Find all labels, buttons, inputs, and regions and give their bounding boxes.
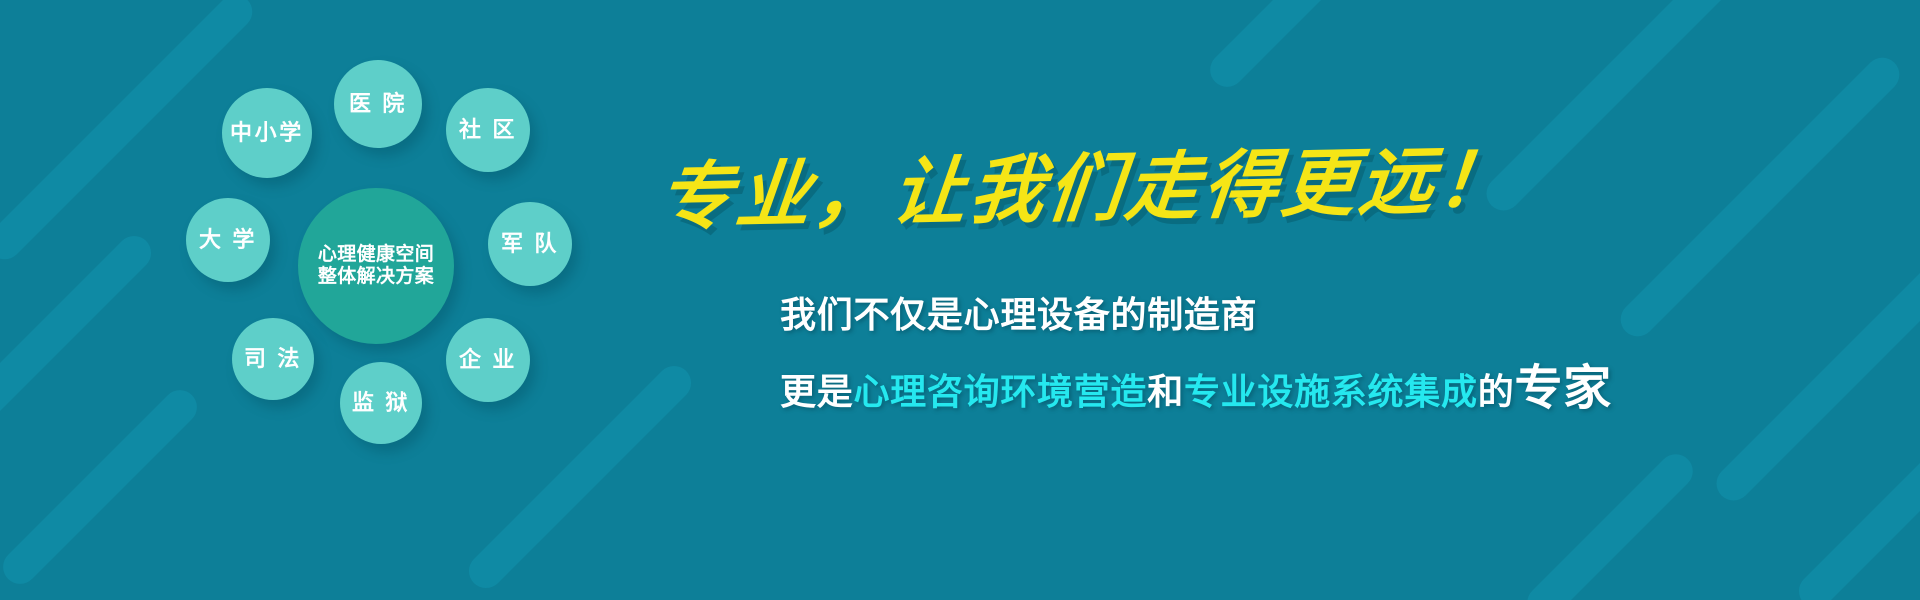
solution-bubble-cluster: 心理健康空间 整体解决方案 中小学 医 院 社 区 大 学 军 队 司 法 企 … [0,0,640,600]
subtitle-part-4-highlight: 专业设施系统集成 [1184,363,1478,415]
bubble-community[interactable]: 社 区 [446,88,530,172]
bubble-center-line1: 心理健康空间 [318,244,434,266]
bubble-label: 中小学 [230,120,304,146]
bubble-label: 医 院 [349,91,407,117]
bubble-label: 社 区 [459,117,517,143]
bubble-enterprise[interactable]: 企 业 [446,318,530,402]
bubble-center-line2: 整体解决方案 [318,266,434,288]
subtitle-part-1: 更是 [780,363,853,415]
bubble-center-solution[interactable]: 心理健康空间 整体解决方案 [298,188,454,344]
headline-slogan: 专业，让我们走得更远！ [654,122,1427,245]
banner-text-content: 专业，让我们走得更远！ 我们不仅是心理设备的制造商 更是 心理咨询环境营造 和 … [640,0,1920,600]
subtitle-part-3: 和 [1147,363,1184,415]
bubble-primary-secondary-school[interactable]: 中小学 [222,88,312,178]
bubble-label: 司 法 [244,346,302,372]
bubble-label: 监 狱 [352,390,410,416]
promo-banner: 心理健康空间 整体解决方案 中小学 医 院 社 区 大 学 军 队 司 法 企 … [0,0,1920,600]
bubble-military[interactable]: 军 队 [488,202,572,286]
subtitle-line-2: 更是 心理咨询环境营造 和 专业设施系统集成 的 专家 [780,348,1612,418]
bubble-hospital[interactable]: 医 院 [334,60,422,148]
bubble-judicial[interactable]: 司 法 [232,318,314,400]
subtitle-part-2-highlight: 心理咨询环境营造 [853,363,1147,415]
subtitle-line-1: 我们不仅是心理设备的制造商 [780,286,1257,338]
bubble-label: 企 业 [459,347,517,373]
bubble-label: 大 学 [199,227,257,253]
bubble-label: 军 队 [501,231,559,257]
subtitle-part-6-emphasis: 专家 [1514,348,1611,418]
bubble-prison[interactable]: 监 狱 [340,362,422,444]
bubble-university[interactable]: 大 学 [186,198,270,282]
subtitle-part-5: 的 [1478,363,1515,415]
